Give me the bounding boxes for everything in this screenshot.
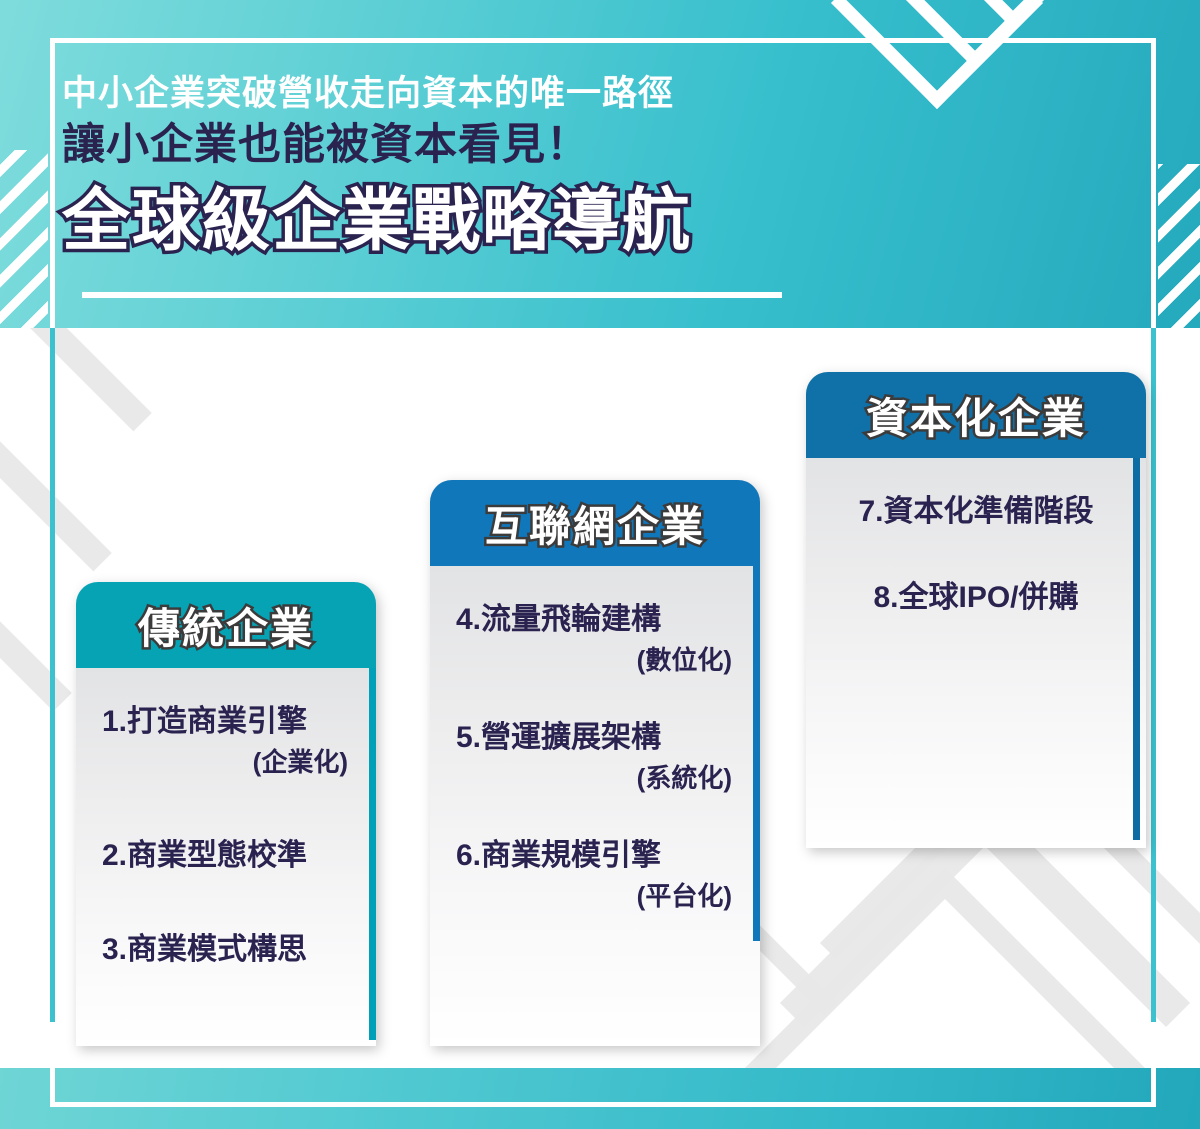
- stage-card-internet[interactable]: 互聯網企業 4.流量飛輪建構 (數位化) 5.營運擴展架構 (系統化) 6.商業…: [430, 480, 760, 1046]
- item-number: 8.: [873, 581, 898, 614]
- header-subtitle-line-1: 中小企業突破營收走向資本的唯一路徑: [62, 72, 1062, 116]
- header-text-block: 中小企業突破營收走向資本的唯一路徑 讓小企業也能被資本看見！ 全球級企業戰略導航: [62, 72, 1062, 262]
- infographic-poster: 中小企業突破營收走向資本的唯一路徑 讓小企業也能被資本看見！ 全球級企業戰略導航…: [0, 0, 1200, 1129]
- list-item: 8.全球IPO/併購: [824, 578, 1128, 618]
- item-number: 7.: [858, 495, 883, 528]
- frame-line-left: [50, 328, 55, 1070]
- stage-card-header: 互聯網企業: [430, 480, 760, 566]
- item-label: 營運擴展架構: [481, 721, 661, 754]
- item-sublabel: (數位化): [456, 640, 742, 680]
- item-label: 打造商業引擎: [127, 705, 307, 738]
- list-item: 5.營運擴展架構 (系統化): [448, 718, 742, 798]
- diagonal-stripes-right-icon: [1158, 164, 1200, 328]
- footer-frame-border: [50, 1022, 1156, 1107]
- stage-title: 互聯網企業: [485, 493, 705, 554]
- item-number: 2.: [102, 839, 127, 872]
- item-label: 商業規模引擎: [481, 839, 661, 872]
- item-sublabel: (企業化): [102, 742, 358, 782]
- stage-card-body: 1.打造商業引擎 (企業化) 2.商業型態校準 3.商業模式構思: [76, 668, 376, 1046]
- stage-title: 傳統企業: [138, 595, 314, 656]
- diagonal-stripes-left-icon: [0, 150, 48, 328]
- title-underline: [82, 292, 782, 298]
- list-item: 3.商業模式構思: [94, 930, 358, 970]
- item-number: 3.: [102, 933, 127, 966]
- page-title: 全球級企業戰略導航: [62, 180, 1062, 262]
- item-label: 流量飛輪建構: [481, 603, 661, 636]
- list-item: 2.商業型態校準: [94, 836, 358, 876]
- item-sublabel: (平台化): [456, 876, 742, 916]
- stage-card-traditional[interactable]: 傳統企業 1.打造商業引擎 (企業化) 2.商業型態校準 3.商業模式構思: [76, 582, 376, 1046]
- stage-accent-line-internet: [753, 566, 760, 941]
- list-item: 6.商業規模引擎 (平台化): [448, 836, 742, 916]
- stage-accent-line-traditional: [369, 668, 376, 1040]
- stage-title: 資本化企業: [866, 385, 1086, 446]
- item-sublabel: (系統化): [456, 758, 742, 798]
- item-number: 6.: [456, 839, 481, 872]
- frame-line-right: [1151, 328, 1156, 1070]
- stage-accent-line-capitalized: [1133, 458, 1140, 840]
- stage-card-header: 傳統企業: [76, 582, 376, 668]
- stage-card-body: 7.資本化準備階段 8.全球IPO/併購: [806, 458, 1146, 848]
- header-subtitle-line-2: 讓小企業也能被資本看見！: [62, 118, 1062, 172]
- header-banner: 中小企業突破營收走向資本的唯一路徑 讓小企業也能被資本看見！ 全球級企業戰略導航: [0, 0, 1200, 328]
- list-item: 7.資本化準備階段: [824, 492, 1128, 532]
- stage-card-body: 4.流量飛輪建構 (數位化) 5.營運擴展架構 (系統化) 6.商業規模引擎 (…: [430, 566, 760, 1046]
- list-item: 1.打造商業引擎 (企業化): [94, 702, 358, 782]
- item-number: 1.: [102, 705, 127, 738]
- item-label: 資本化準備階段: [884, 495, 1094, 528]
- stage-card-header: 資本化企業: [806, 372, 1146, 458]
- item-label: 全球IPO/併購: [899, 581, 1079, 614]
- item-number: 5.: [456, 721, 481, 754]
- item-label: 商業型態校準: [127, 839, 307, 872]
- stage-card-capitalized[interactable]: 資本化企業 7.資本化準備階段 8.全球IPO/併購: [806, 372, 1146, 848]
- list-item: 4.流量飛輪建構 (數位化): [448, 600, 742, 680]
- item-number: 4.: [456, 603, 481, 636]
- item-label: 商業模式構思: [127, 933, 307, 966]
